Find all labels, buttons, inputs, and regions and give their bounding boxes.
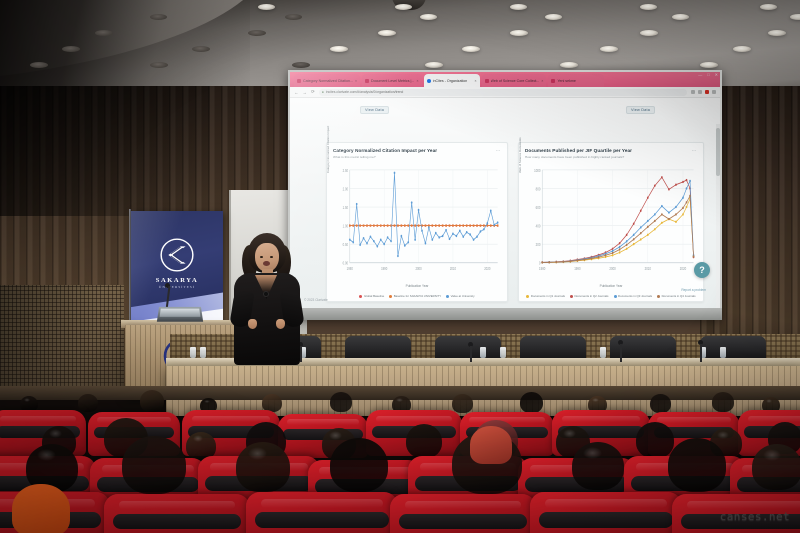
ceiling-downlight xyxy=(150,62,168,68)
desk-microphone-stem xyxy=(700,344,702,362)
screen-bottom-rail xyxy=(288,308,722,320)
svg-text:1980: 1980 xyxy=(539,267,545,272)
head-highlight xyxy=(204,400,210,404)
ceiling-downlight xyxy=(700,62,718,68)
seat-highlight xyxy=(562,416,640,422)
forward-icon[interactable]: → xyxy=(303,90,308,95)
presenter-necklace-pendant xyxy=(263,291,269,297)
legend-marker xyxy=(389,295,392,298)
head-highlight xyxy=(49,429,61,437)
head-highlight xyxy=(193,435,204,442)
ceiling-downlight xyxy=(95,30,113,36)
browser-tab[interactable]: Web of Science Core Collect... × xyxy=(482,74,547,87)
head-highlight xyxy=(766,399,772,403)
legend-item[interactable]: Documents in Q3 Journals xyxy=(614,294,653,298)
newtab-favicon xyxy=(551,79,555,83)
ceiling-downlight xyxy=(733,46,751,52)
legend-label: Value at University xyxy=(451,294,475,298)
legend-label: Documents in Q1 Journals xyxy=(531,294,565,298)
legend-label: Documents in Q4 Journals xyxy=(662,294,696,298)
ceiling-downlight xyxy=(510,4,527,10)
clarivate-favicon xyxy=(427,79,431,83)
ext-star-icon[interactable] xyxy=(698,90,702,94)
seat-stripe xyxy=(255,512,389,528)
svg-text:1.50: 1.50 xyxy=(343,206,348,211)
chart-legend-jif: Documents in Q1 JournalsDocuments in Q2 … xyxy=(525,294,697,298)
ceiling-downlight xyxy=(150,14,167,20)
svg-text:2020: 2020 xyxy=(484,267,490,272)
browser-tab-strip: Category Normalized Citation... × Docume… xyxy=(290,72,720,87)
view-data-button[interactable]: View Data xyxy=(626,106,655,114)
tab-label: Web of Science Core Collect... xyxy=(491,79,540,83)
seat-highlight xyxy=(405,501,522,509)
svg-text:2000: 2000 xyxy=(415,267,421,272)
seat-stripe xyxy=(399,514,528,529)
panel-title: Documents Published per JIF Quartile per… xyxy=(525,148,697,153)
legend-item[interactable]: Global Baseline xyxy=(359,294,384,298)
ceiling-downlight xyxy=(292,62,310,68)
ceiling-downlight xyxy=(378,30,396,36)
chart-plot-area-cnci: 0.000.501.001.502.002.501980199020002010… xyxy=(333,165,501,279)
scrollbar-thumb[interactable] xyxy=(716,128,720,176)
ceiling-downlight xyxy=(768,30,786,36)
ext-puzzle-icon[interactable] xyxy=(691,90,695,94)
presenter-hand-left xyxy=(248,319,257,329)
acoustic-panel-shadow xyxy=(0,285,124,395)
page-scrollbar[interactable] xyxy=(716,124,720,308)
ceiling-downlight xyxy=(30,62,48,68)
chart-plot-area-jif: 0200400600800100019801990200020102020 xyxy=(525,165,697,279)
head-highlight xyxy=(329,431,341,439)
presenter-person xyxy=(226,233,308,365)
head-highlight xyxy=(592,398,599,402)
url-text: incites.clarivate.com/#/analysis/0/organ… xyxy=(326,90,403,94)
close-icon[interactable]: × xyxy=(541,79,543,83)
jif-quartile-line-chart: 0200400600800100019801990200020102020 xyxy=(525,165,697,279)
head-highlight xyxy=(763,449,781,461)
water-glass xyxy=(500,347,506,358)
auditorium-seat xyxy=(390,494,536,533)
audience-head xyxy=(78,394,98,412)
svg-text:0.50: 0.50 xyxy=(343,243,348,248)
water-glass xyxy=(480,347,486,358)
legend-label: Documents in Q3 Journals xyxy=(618,294,652,298)
seat-highlight xyxy=(545,499,667,507)
desk-microphone-stem xyxy=(620,344,622,362)
svg-text:600: 600 xyxy=(536,206,541,211)
water-glass xyxy=(720,347,726,358)
ceiling-downlight xyxy=(420,14,437,20)
reload-icon[interactable]: ⟳ xyxy=(311,89,315,95)
seat-highlight xyxy=(687,501,800,509)
incites-analysis-page: View Data View Data Category Normalized … xyxy=(290,98,720,308)
presenter-hand-right xyxy=(276,319,285,329)
legend-item[interactable]: Documents in Q1 Journals xyxy=(526,294,565,298)
tab-label: Category Normalized Citation... xyxy=(303,79,353,83)
close-icon[interactable]: × xyxy=(416,79,418,83)
ext-profile-icon[interactable] xyxy=(712,90,716,94)
svg-text:200: 200 xyxy=(536,243,541,248)
minimize-icon[interactable]: — xyxy=(698,72,702,77)
seat-highlight xyxy=(748,416,800,422)
panel-menu-icon[interactable]: ⋯ xyxy=(692,148,698,154)
auditorium-seat xyxy=(104,494,250,533)
presentation-photo: Category Normalized Citation... × Docume… xyxy=(0,0,800,533)
audience-head xyxy=(406,424,442,458)
chart-legend-cnci: Global BaselineBaseline for SAKARYA UNIV… xyxy=(333,294,501,298)
seat-highlight xyxy=(657,417,731,423)
audience-head xyxy=(140,390,164,412)
panel-menu-icon[interactable]: ⋯ xyxy=(496,148,502,154)
incites-favicon xyxy=(365,79,369,83)
ceiling-downlight xyxy=(285,14,302,20)
seat-highlight xyxy=(376,416,453,422)
browser-tab[interactable]: Document Level Metrics |... × xyxy=(362,74,422,87)
browser-toolbar: ← → ⟳ ● incites.clarivate.com/#/analysis… xyxy=(290,87,720,98)
maximize-icon[interactable]: □ xyxy=(707,72,709,77)
svg-text:1980: 1980 xyxy=(347,267,353,272)
y-axis-label: Web of Science Documents xyxy=(518,137,522,173)
ceiling-downlight xyxy=(545,14,562,20)
legend-item[interactable]: Value at University xyxy=(446,294,474,298)
ext-adblock-icon[interactable] xyxy=(705,90,709,94)
svg-text:400: 400 xyxy=(536,224,541,229)
x-axis-label: Publication Year xyxy=(327,284,507,288)
seat-stripe xyxy=(539,512,673,528)
svg-text:2010: 2010 xyxy=(645,267,651,272)
svg-text:2000: 2000 xyxy=(609,267,615,272)
svg-text:1000: 1000 xyxy=(534,168,540,173)
audience-head xyxy=(330,438,388,492)
water-glass xyxy=(200,347,206,358)
legend-marker xyxy=(526,295,529,298)
ceiling-downlight xyxy=(462,46,480,52)
x-axis-label: Publication Year xyxy=(519,284,703,288)
ceiling-downlight xyxy=(192,46,210,52)
audience-head xyxy=(712,392,734,412)
projected-browser-window: Category Normalized Citation... × Docume… xyxy=(290,72,720,308)
audience-head xyxy=(520,392,543,413)
back-icon[interactable]: ← xyxy=(294,90,299,95)
ceiling-downlight xyxy=(760,4,777,10)
browser-tab[interactable]: Category Normalized Citation... × xyxy=(294,74,360,87)
ceiling-downlight xyxy=(510,30,528,36)
head-highlight xyxy=(717,431,729,439)
audience-head xyxy=(636,422,674,458)
water-glass xyxy=(190,347,196,358)
chart-panel-cnci: Category Normalized Citation Impact per … xyxy=(326,142,508,302)
ceiling-downlight xyxy=(600,46,618,52)
legend-marker xyxy=(570,295,573,298)
svg-text:1.00: 1.00 xyxy=(343,224,348,229)
incites-favicon xyxy=(297,79,301,83)
svg-text:2020: 2020 xyxy=(680,267,686,272)
audience-head xyxy=(452,394,473,413)
ceiling-downlight xyxy=(395,4,412,10)
audience-seating xyxy=(0,392,800,533)
desk-microphone-stem xyxy=(470,346,472,362)
ceiling-downlight xyxy=(425,62,443,68)
svg-text:2010: 2010 xyxy=(450,267,456,272)
seat-highlight xyxy=(0,416,76,422)
address-bar[interactable]: ● incites.clarivate.com/#/analysis/0/org… xyxy=(319,89,687,96)
audience-head xyxy=(668,438,726,492)
head-highlight xyxy=(583,447,602,459)
view-data-button[interactable]: View Data xyxy=(360,106,389,114)
seat-highlight xyxy=(287,419,359,425)
seat-highlight xyxy=(192,416,270,422)
legend-marker xyxy=(446,295,449,298)
close-window-icon[interactable]: ✕ xyxy=(715,72,718,77)
audience-headscarf xyxy=(12,484,70,533)
ceiling-downlight xyxy=(672,14,689,20)
legend-item[interactable]: Documents in Q2 Journals xyxy=(570,294,609,298)
presenter-eye-right xyxy=(270,256,273,258)
ceiling-shadow-left xyxy=(0,0,250,92)
audience-head xyxy=(122,436,186,494)
ceiling-downlight xyxy=(62,46,80,52)
legend-marker xyxy=(657,295,660,298)
tab-label: Yeni sekme xyxy=(557,79,575,83)
head-highlight xyxy=(248,447,267,460)
watermark: canses.net xyxy=(720,510,790,523)
lock-icon: ● xyxy=(322,90,324,94)
legend-item[interactable]: Baseline for SAKARYA UNIVERSITY xyxy=(389,294,441,298)
y-axis-label: Category Normalized Citation Impact xyxy=(326,126,330,173)
panel-title: Category Normalized Citation Impact per … xyxy=(333,148,501,153)
presenter-mouth xyxy=(263,261,270,266)
head-highlight xyxy=(24,398,30,402)
wall-shadow xyxy=(0,86,210,216)
laptop-screen xyxy=(160,309,201,317)
seat-highlight xyxy=(119,501,236,509)
presenter-face xyxy=(255,243,279,272)
svg-text:1990: 1990 xyxy=(381,267,387,272)
ceiling-downlight xyxy=(640,4,657,10)
audience-head xyxy=(236,442,290,492)
seat-highlight xyxy=(261,499,383,507)
head-highlight xyxy=(37,449,56,461)
ceiling-downlight xyxy=(248,30,266,36)
legend-marker xyxy=(359,295,362,298)
legend-label: Documents in Q2 Journals xyxy=(574,294,608,298)
svg-text:0: 0 xyxy=(539,261,541,266)
head-highlight xyxy=(396,398,403,402)
audience-head xyxy=(572,442,624,490)
audience-head xyxy=(330,392,352,412)
auditorium-seat xyxy=(246,492,398,533)
ceiling-downlight xyxy=(258,4,275,10)
audience-head xyxy=(752,444,800,490)
legend-marker xyxy=(614,295,617,298)
auditorium-seat xyxy=(530,492,682,533)
tab-label: Document Level Metrics |... xyxy=(371,79,414,83)
window-controls[interactable]: — □ ✕ xyxy=(698,72,718,77)
cnci-line-chart: 0.000.501.001.502.002.501980199020002010… xyxy=(333,165,501,279)
panel-subtitle: What is this metric telling me? xyxy=(333,155,501,159)
water-glass xyxy=(600,347,606,358)
legend-label: Global Baseline xyxy=(364,294,384,298)
projection-screen: Category Normalized Citation... × Docume… xyxy=(288,70,722,320)
wos-favicon xyxy=(485,79,489,83)
audience-head xyxy=(650,394,671,413)
ceiling-downlight xyxy=(330,46,348,52)
browser-tab[interactable]: Yeni sekme xyxy=(548,74,604,87)
svg-text:800: 800 xyxy=(536,187,541,192)
svg-text:1990: 1990 xyxy=(574,267,580,272)
panel-subtitle: How many documents have been published i… xyxy=(525,155,697,159)
close-icon[interactable]: × xyxy=(474,79,476,83)
browser-tab-active[interactable]: InCites - Organization × xyxy=(424,74,480,87)
audience-headscarf xyxy=(470,426,512,464)
head-highlight xyxy=(563,429,575,437)
legend-label: Baseline for SAKARYA UNIVERSITY xyxy=(394,294,441,298)
help-button[interactable]: ? xyxy=(694,262,710,278)
legend-item[interactable]: Documents in Q4 Journals xyxy=(657,294,696,298)
extension-icons[interactable] xyxy=(691,90,716,94)
ceiling-downlight xyxy=(560,62,578,68)
seat-stripe xyxy=(113,514,242,529)
ceiling-downlight xyxy=(790,14,800,20)
chart-panel-jif: Documents Published per JIF Quartile per… xyxy=(518,142,704,302)
ceiling-downlight xyxy=(640,30,658,36)
close-icon[interactable]: × xyxy=(355,79,357,83)
svg-text:0.00: 0.00 xyxy=(343,261,348,266)
presenter-eye-left xyxy=(260,256,263,258)
svg-text:2.00: 2.00 xyxy=(343,187,348,192)
presenter-laptop xyxy=(157,307,203,322)
svg-text:2.50: 2.50 xyxy=(343,168,348,173)
report-problem-link[interactable]: Report a problem xyxy=(681,288,706,292)
tab-label: InCites - Organization xyxy=(433,79,468,83)
